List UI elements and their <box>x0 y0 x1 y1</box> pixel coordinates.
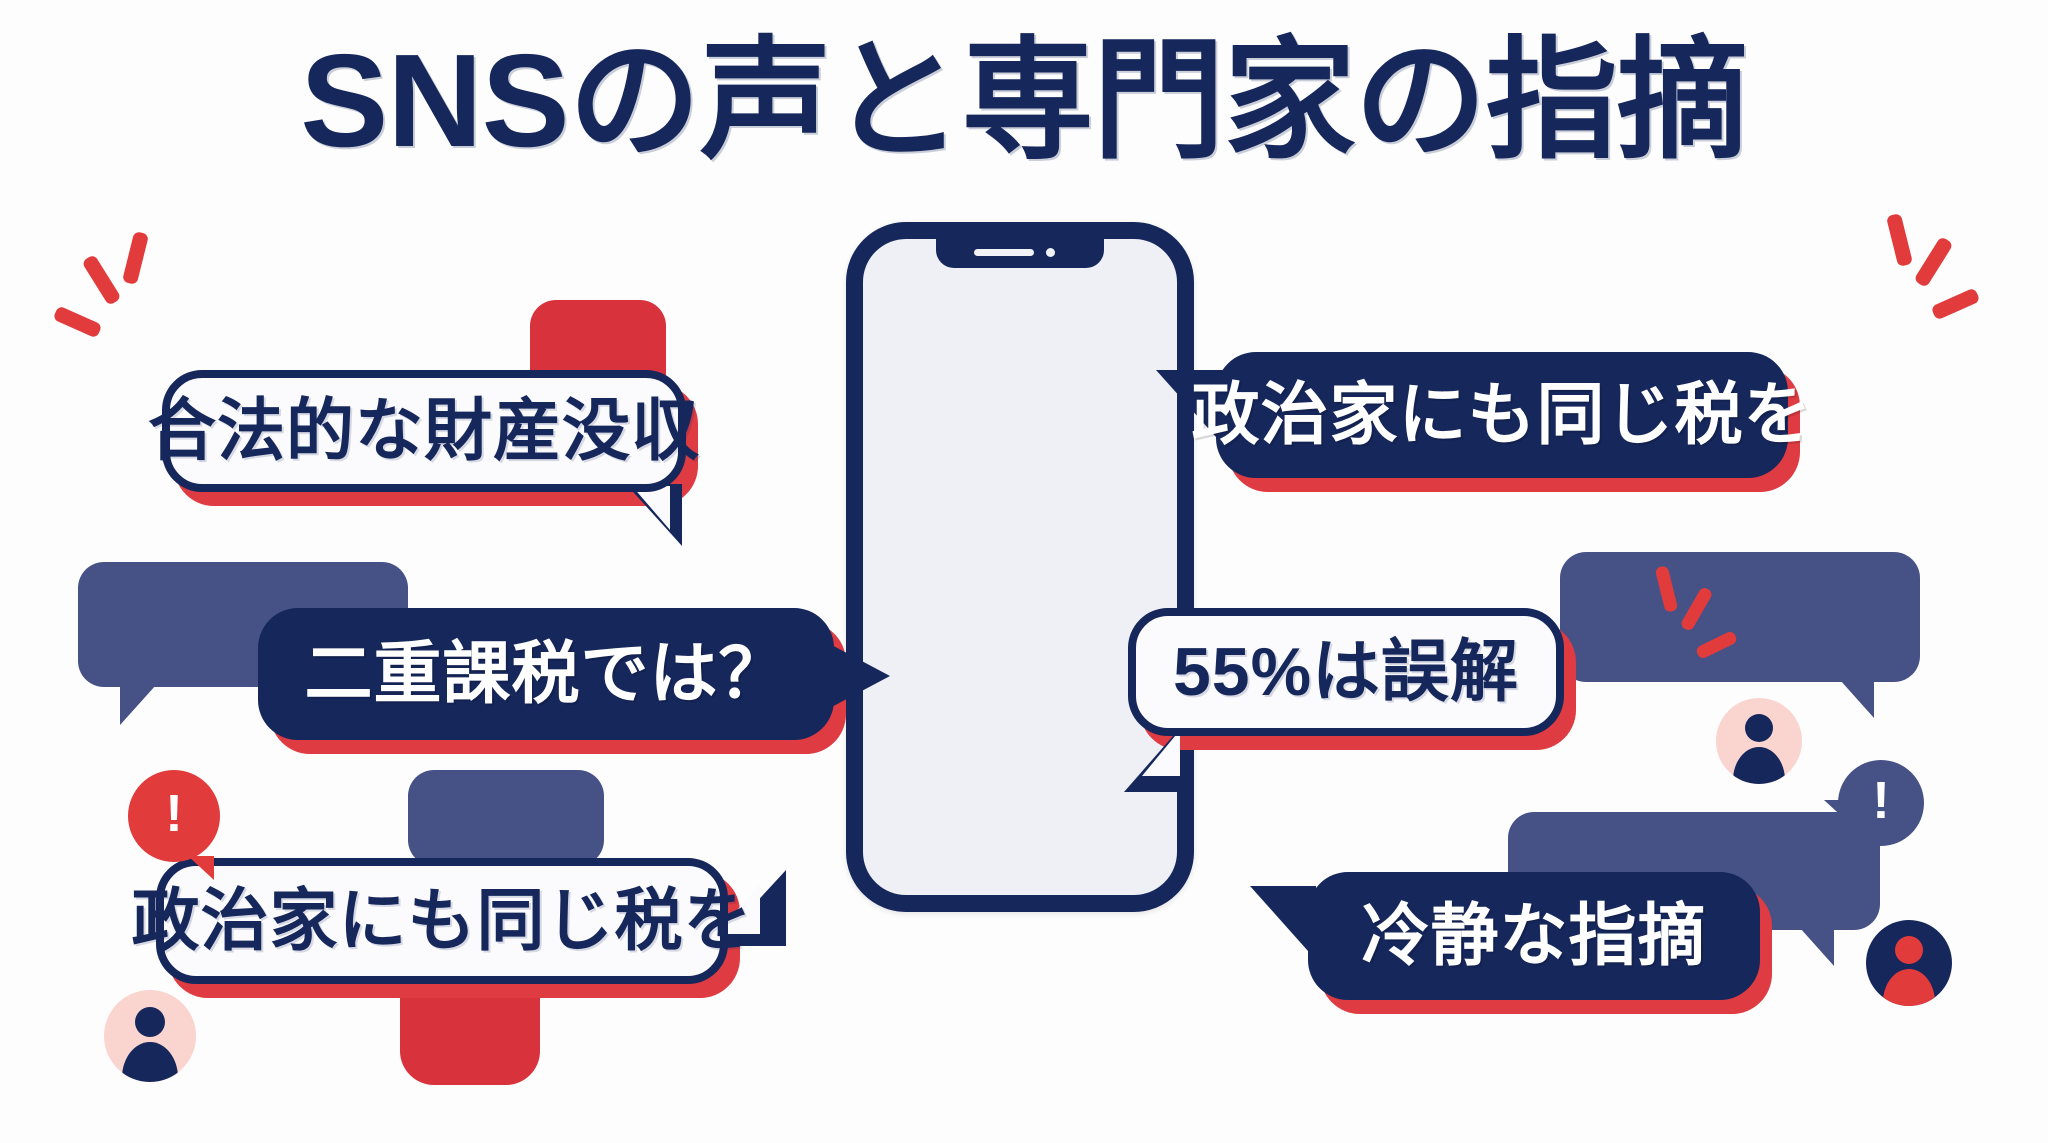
spark-line <box>1913 236 1953 288</box>
user-avatar <box>1716 698 1802 784</box>
bubble-label: 二重課税では？ <box>304 640 787 708</box>
spark-line <box>1931 287 1981 320</box>
bubble-label: 政治家にも同じ税を <box>132 887 753 955</box>
speech-bubble[interactable]: 合法的な財産没収 <box>162 370 686 492</box>
speech-bubble[interactable]: 政治家にも同じ税を <box>1216 352 1788 478</box>
bubble-label: 政治家にも同じ税を <box>1192 381 1813 449</box>
earpiece-speaker-icon <box>974 249 1034 256</box>
speech-bubble[interactable]: 55%は誤解 <box>1128 608 1564 736</box>
bubble-tail-fill <box>632 486 670 530</box>
avatar-body-icon <box>122 1042 178 1082</box>
avatar-body-icon <box>1733 747 1785 784</box>
bubble-label: 合法的な財産没収 <box>148 397 700 465</box>
spark-line <box>1886 213 1913 267</box>
avatar-head-icon <box>1895 936 1923 964</box>
bubble-body: 政治家にも同じ税を <box>1216 352 1788 478</box>
spark-line <box>122 231 149 285</box>
user-avatar <box>1866 920 1952 1006</box>
front-camera-icon <box>1046 248 1055 257</box>
bubble-body: 政治家にも同じ税を <box>156 858 728 984</box>
page-title: SNSの声と専門家の指摘 <box>0 26 2048 176</box>
avatar-body-icon <box>1883 969 1935 1006</box>
background-speech-bubble <box>1560 552 1920 682</box>
bubble-label: 冷静な指摘 <box>1361 902 1706 970</box>
alert-badge-icon: ! <box>1838 760 1924 846</box>
exclamation-glyph: ! <box>1872 775 1889 827</box>
smartphone-mockup <box>846 222 1194 912</box>
speech-bubble[interactable]: 政治家にも同じ税を <box>156 858 728 984</box>
avatar-head-icon <box>135 1007 165 1037</box>
phone-notch <box>936 238 1104 268</box>
bubble-body: 二重課税では？ <box>258 608 834 740</box>
badge-tail <box>1824 800 1848 822</box>
bubble-body: 55%は誤解 <box>1128 608 1564 736</box>
spark-line <box>81 254 121 306</box>
poster-canvas: SNSの声と専門家の指摘 合法的な財産没収 <box>0 0 2048 1143</box>
badge-tail <box>188 856 214 880</box>
speech-bubble[interactable]: 二重課税では？ <box>258 608 834 740</box>
bubble-body: 冷静な指摘 <box>1308 872 1760 1000</box>
bubble-body: 合法的な財産没収 <box>162 370 686 492</box>
background-speech-bubble <box>408 770 604 866</box>
alert-badge-icon: ! <box>128 770 220 862</box>
bubble-label: 55%は誤解 <box>1173 638 1519 706</box>
speech-bubble[interactable]: 冷静な指摘 <box>1308 872 1760 1000</box>
bubble-tail-fill <box>1142 730 1180 776</box>
exclamation-glyph: ! <box>165 788 182 840</box>
avatar-head-icon <box>1745 714 1773 742</box>
user-avatar <box>104 990 196 1082</box>
bubble-tail-outline <box>1250 886 1316 960</box>
spark-line <box>53 305 103 338</box>
bubble-tail-outline <box>826 642 890 710</box>
